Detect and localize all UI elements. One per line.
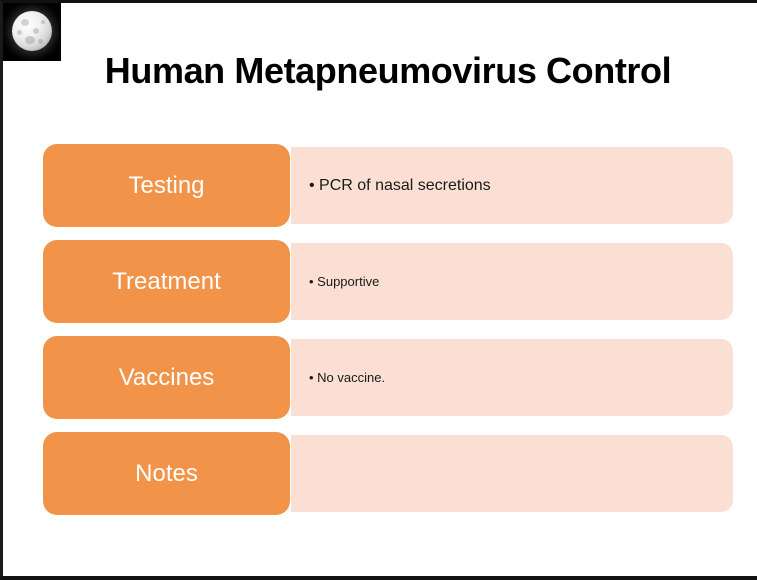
row-content-testing[interactable]: • PCR of nasal secretions (291, 147, 733, 224)
moon-crater (17, 30, 22, 35)
moon-crater (41, 20, 45, 24)
row-label-testing[interactable]: Testing (43, 144, 290, 227)
moon-crater (33, 28, 39, 34)
row-label-treatment[interactable]: Treatment (43, 240, 290, 323)
row-label-text: Notes (135, 460, 198, 488)
row-content-vaccines[interactable]: • No vaccine. (291, 339, 733, 416)
slide-canvas: Human Metapneumovirus Control Testing • … (0, 0, 757, 580)
row-label-notes[interactable]: Notes (43, 432, 290, 515)
row-bullet-text: • Supportive (291, 273, 379, 290)
moon-crater (21, 19, 29, 26)
row-label-text: Vaccines (119, 364, 215, 392)
moon-crater (38, 39, 43, 44)
row-bullet-text: • No vaccine. (291, 369, 385, 386)
row-label-vaccines[interactable]: Vaccines (43, 336, 290, 419)
row-content-treatment[interactable]: • Supportive (291, 243, 733, 320)
content-row: Testing • PCR of nasal secretions (43, 144, 733, 227)
page-title: Human Metapneumovirus Control (63, 49, 713, 93)
moon-icon (3, 3, 61, 61)
moon-disc (12, 11, 52, 51)
content-row: Treatment • Supportive (43, 240, 733, 323)
row-content-notes[interactable] (291, 435, 733, 512)
row-bullet-text: • PCR of nasal secretions (291, 176, 491, 196)
row-label-text: Treatment (112, 268, 220, 296)
row-label-text: Testing (128, 172, 204, 200)
content-row: Notes (43, 432, 733, 515)
moon-crater (25, 36, 35, 44)
content-row: Vaccines • No vaccine. (43, 336, 733, 419)
